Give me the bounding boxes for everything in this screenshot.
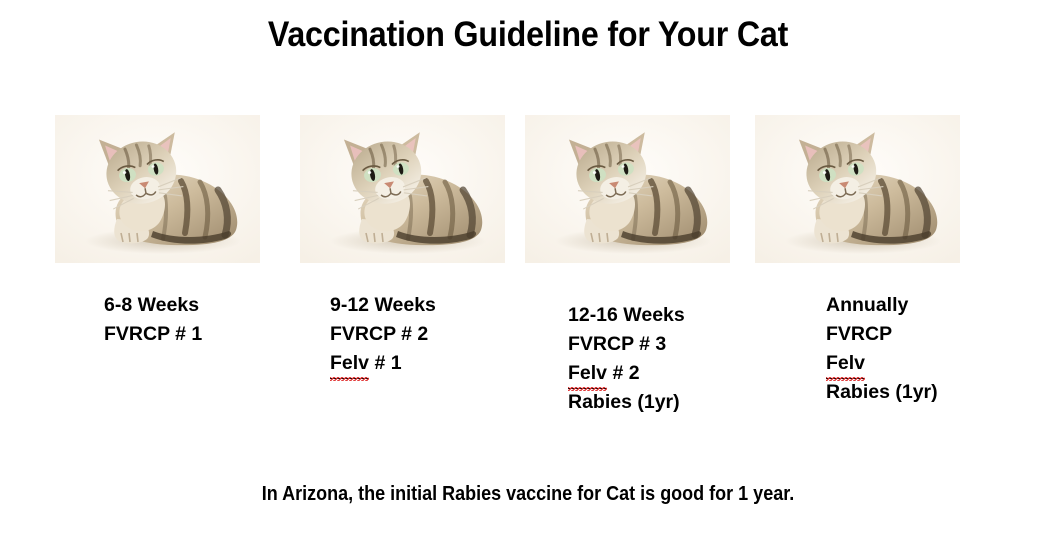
misspelled-word: Felv: [568, 359, 607, 388]
age-label: Annually: [826, 291, 938, 320]
kitten-photo-2: [300, 115, 505, 263]
tabby-kitten-icon: [755, 115, 960, 263]
vaccine-line: FVRCP # 2: [330, 320, 436, 349]
kitten-photo-4: [755, 115, 960, 263]
age-label: 9-12 Weeks: [330, 291, 436, 320]
misspelled-word: Felv: [826, 349, 865, 378]
vaccine-line: Rabies (1yr): [568, 388, 685, 417]
schedule-column-1: 6-8 Weeks FVRCP # 1: [104, 291, 202, 349]
vaccine-line-rest: # 2: [607, 362, 640, 384]
kitten-photo-3: [525, 115, 730, 263]
tabby-kitten-icon: [300, 115, 505, 263]
vaccine-line: Felv # 2: [568, 359, 685, 388]
vaccine-line: FVRCP # 1: [104, 320, 202, 349]
tabby-kitten-icon: [55, 115, 260, 263]
age-label: 12-16 Weeks: [568, 301, 685, 330]
vaccine-line: Felv: [826, 349, 938, 378]
schedule-column-2: 9-12 Weeks FVRCP # 2 Felv # 1: [330, 291, 436, 378]
vaccine-line: FVRCP # 3: [568, 330, 685, 359]
age-label: 6-8 Weeks: [104, 291, 202, 320]
footer-note: In Arizona, the initial Rabies vaccine f…: [53, 483, 1003, 506]
vaccine-line: Rabies (1yr): [826, 378, 938, 407]
vaccine-line: Felv # 1: [330, 349, 436, 378]
vaccine-line-rest: # 1: [369, 352, 402, 374]
page-title: Vaccination Guideline for Your Cat: [42, 17, 1014, 54]
vaccine-line: FVRCP: [826, 320, 938, 349]
tabby-kitten-icon: [525, 115, 730, 263]
schedule-column-3: 12-16 Weeks FVRCP # 3 Felv # 2 Rabies (1…: [568, 301, 685, 417]
schedule-column-4: Annually FVRCP Felv Rabies (1yr): [826, 291, 938, 407]
misspelled-word: Felv: [330, 349, 369, 378]
kitten-photo-1: [55, 115, 260, 263]
